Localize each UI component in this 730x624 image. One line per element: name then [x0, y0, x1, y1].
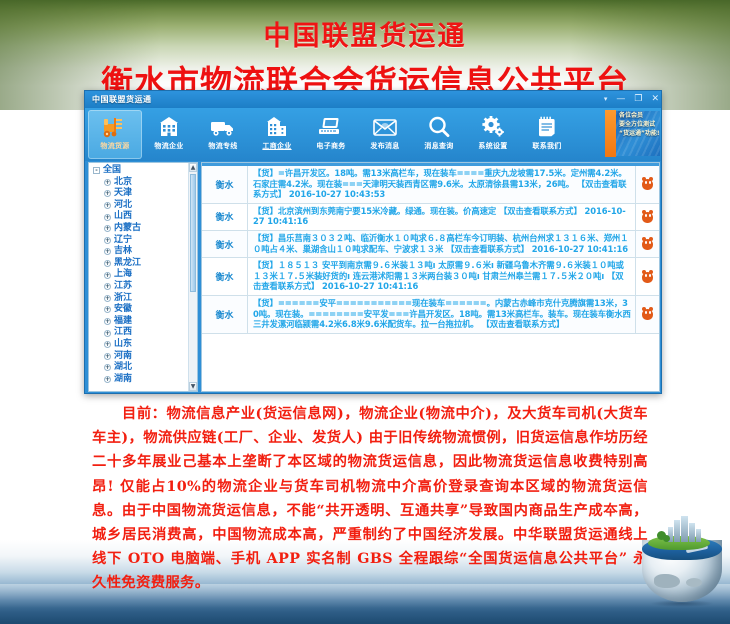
tree-node-province[interactable]: +黑龙江	[92, 258, 188, 270]
application-window: 中国联盟货运通 ▾ — ❐ ✕	[84, 90, 662, 394]
tree-node-root[interactable]: - 全国	[92, 165, 188, 177]
main-toolbar: 物流货源 物流企业	[85, 108, 661, 161]
toolbar-label: 发布消息	[370, 141, 399, 151]
window-workspace: - 全国 +北京+天津+河北+山西+内蒙古+辽宁+吉林+黑龙江+上海+江苏+浙江…	[88, 162, 660, 392]
tree-node-label: 江西	[114, 327, 132, 339]
envelope-icon	[372, 110, 398, 140]
toolbar-item-industrial-company[interactable]: 工商企业	[250, 110, 304, 159]
qq-contact-icon[interactable]	[642, 178, 653, 190]
qq-contact-icon[interactable]	[642, 238, 653, 250]
tree-toggle-icon[interactable]: +	[104, 353, 111, 360]
tree-node-label: 吉林	[114, 246, 132, 258]
qq-contact-icon[interactable]	[642, 308, 653, 320]
cargo-city: 衡水	[202, 296, 248, 333]
tree-node-label: 江苏	[114, 281, 132, 293]
globe-continent-1	[654, 574, 680, 588]
maximize-icon[interactable]: ❐	[634, 95, 642, 104]
scrollbar-thumb[interactable]	[190, 174, 196, 292]
scroll-up-icon[interactable]: ▲	[189, 163, 197, 172]
globe-building-5	[696, 529, 701, 542]
tree-node-province[interactable]: +山东	[92, 339, 188, 351]
cargo-message[interactable]: 【货】１８５１３ 安平到南京需９.６米装１３吨ı 太原需９.６米ı 新疆乌鲁木齐…	[248, 258, 635, 295]
toolbar-label: 物流货源	[100, 141, 129, 151]
note-icon	[535, 110, 559, 140]
tree-node-province[interactable]: +内蒙古	[92, 223, 188, 235]
globe-tree-2	[663, 535, 670, 542]
cargo-row[interactable]: 衡水【货】=许昌开发区。18吨。需13米高栏车，现在装车====重庆九龙坡需17…	[202, 166, 659, 204]
scroll-down-icon[interactable]: ▼	[189, 382, 197, 391]
region-tree: - 全国 +北京+天津+河北+山西+内蒙古+辽宁+吉林+黑龙江+上海+江苏+浙江…	[89, 163, 188, 391]
tree-node-label: 湖南	[114, 374, 132, 386]
tree-node-label: 安徽	[114, 304, 132, 316]
globe-building-3	[689, 523, 695, 542]
tree-node-province[interactable]: +江西	[92, 327, 188, 339]
cargo-row[interactable]: 衡水【货】昌乐莒南３０３２吨、临沂衡水１０吨求６.８高栏车今订明装、杭州台州求１…	[202, 231, 659, 258]
region-tree-panel: - 全国 +北京+天津+河北+山西+内蒙古+辽宁+吉林+黑龙江+上海+江苏+浙江…	[88, 162, 198, 392]
cargo-contact-cell[interactable]	[635, 204, 659, 230]
cargo-message[interactable]: 【货】昌乐莒南３０３２吨、临沂衡水１０吨求６.８高栏车今订明装、杭州台州求１３１…	[248, 231, 635, 257]
tree-toggle-icon[interactable]: +	[104, 214, 111, 221]
office-icon	[265, 110, 289, 140]
tree-node-label: 湖北	[114, 362, 132, 374]
tree-node-province[interactable]: +吉林	[92, 246, 188, 258]
toolbar-item-logistics-line[interactable]: 物流专线	[196, 110, 250, 159]
toolbar-label: 物流专线	[208, 141, 237, 151]
toolbar-item-ecommerce[interactable]: 电子商务	[304, 110, 358, 159]
toolbar-label: 联系我们	[532, 141, 561, 151]
tree-node-province[interactable]: +辽宁	[92, 235, 188, 247]
toolbar-label: 电子商务	[316, 141, 345, 151]
tree-toggle-icon[interactable]: +	[104, 248, 111, 255]
tree-node-label: 福建	[114, 316, 132, 328]
tree-node-province[interactable]: +湖南	[92, 374, 188, 386]
tree-node-province[interactable]: +河南	[92, 351, 188, 363]
qq-contact-icon[interactable]	[642, 211, 653, 223]
tree-node-label: 内蒙古	[114, 223, 141, 235]
globe-city-graphic	[640, 516, 724, 608]
toolbar-label: 消息查询	[424, 141, 453, 151]
promo-paragraph: 目前：物流信息产业(货运信息网)，物流企业(物流中介)，及大货车司机(大货车车主…	[92, 402, 648, 596]
tree-scrollbar[interactable]: ▲ ▼	[188, 163, 197, 391]
tree-toggle-icon[interactable]: +	[104, 330, 111, 337]
tree-toggle-icon[interactable]: +	[104, 364, 111, 371]
tree-toggle-icon[interactable]: +	[104, 190, 111, 197]
gear-icon	[480, 110, 506, 140]
search-icon	[427, 110, 451, 140]
toolbar-label: 工商企业	[262, 141, 291, 151]
toolbar-item-contact-us[interactable]: 联系我们	[520, 110, 574, 159]
tree-toggle-icon[interactable]: +	[104, 272, 111, 279]
toolbar-item-cargo-source[interactable]: 物流货源	[88, 110, 142, 159]
member-notice-banner[interactable]: 各位会员 要全方位测试 “货运通”功能!	[616, 111, 660, 156]
cargo-message[interactable]: 【货】======安平===========现在装车======。内蒙古赤峰市克…	[248, 296, 635, 333]
tree-toggle-icon[interactable]: +	[104, 237, 111, 244]
tree-node-province[interactable]: +山西	[92, 211, 188, 223]
tree-toggle-icon[interactable]: +	[104, 295, 111, 302]
tree-node-label: 上海	[114, 269, 132, 281]
cargo-city: 衡水	[202, 204, 248, 230]
tree-toggle-icon[interactable]: +	[104, 341, 111, 348]
tree-toggle-icon[interactable]: +	[104, 376, 111, 383]
tree-node-province[interactable]: +上海	[92, 269, 188, 281]
qq-contact-icon[interactable]	[642, 271, 653, 283]
globe-continent-2	[686, 578, 702, 587]
cargo-row[interactable]: 衡水【货】１８５１３ 安平到南京需９.６米装１３吨ı 太原需９.６米ı 新疆乌鲁…	[202, 258, 659, 296]
toolbar-item-system-settings[interactable]: 系统设置	[466, 110, 520, 159]
tree-toggle-icon[interactable]: +	[104, 179, 111, 186]
tree-node-province[interactable]: +江苏	[92, 281, 188, 293]
toolbar-label: 系统设置	[478, 141, 507, 151]
cargo-row[interactable]: 衡水【货】======安平===========现在装车======。内蒙古赤峰…	[202, 296, 659, 334]
close-icon[interactable]: ✕	[651, 95, 659, 104]
tree-node-label: 辽宁	[114, 235, 132, 247]
tree-node-province[interactable]: +天津	[92, 188, 188, 200]
toolbar-item-message-query[interactable]: 消息查询	[412, 110, 466, 159]
tree-node-label: 黑龙江	[114, 258, 141, 270]
tree-toggle-icon[interactable]: +	[104, 306, 111, 313]
tree-node-province[interactable]: +安徽	[92, 304, 188, 316]
tree-node-label: 北京	[114, 177, 132, 189]
tree-node-label: 山西	[114, 211, 132, 223]
cargo-row[interactable]: 衡水【货】北京滨州到东莞南宁要15米冷藏。绿通。现在装。价高速定 【双击查看联系…	[202, 204, 659, 231]
tree-node-province[interactable]: +湖北	[92, 362, 188, 374]
banner-line-3: “货运通”功能!	[616, 129, 660, 138]
cargo-message[interactable]: 【货】=许昌开发区。18吨。需13米高栏车，现在装车====重庆九龙坡需17.5…	[248, 166, 635, 203]
cargo-contact-cell[interactable]	[635, 258, 659, 295]
window-controls: ▾ — ❐ ✕	[604, 91, 659, 108]
tree-toggle-icon[interactable]: -	[93, 167, 100, 174]
cargo-contact-cell[interactable]	[635, 166, 659, 203]
tree-toggle-icon[interactable]: +	[104, 283, 111, 290]
toolbar-item-publish-message[interactable]: 发布消息	[358, 110, 412, 159]
tree-toggle-icon[interactable]: +	[104, 318, 111, 325]
tree-node-label: 浙江	[114, 293, 132, 305]
page-title-primary: 中国联盟货运通	[0, 14, 730, 53]
tree-node-province[interactable]: +浙江	[92, 293, 188, 305]
tree-node-province[interactable]: +河北	[92, 200, 188, 212]
tree-node-province[interactable]: +福建	[92, 316, 188, 328]
window-title: 中国联盟货运通	[85, 94, 152, 105]
cargo-contact-cell[interactable]	[635, 231, 659, 257]
toolbar-item-logistics-company[interactable]: 物流企业	[142, 110, 196, 159]
cargo-city: 衡水	[202, 166, 248, 203]
tree-node-label: 河南	[114, 351, 132, 363]
toolbar-label: 物流企业	[154, 141, 183, 151]
tree-toggle-icon[interactable]: +	[104, 260, 111, 267]
truck-icon	[210, 110, 236, 140]
tree-node-label: 全国	[103, 165, 121, 177]
cargo-contact-cell[interactable]	[635, 296, 659, 333]
globe-building-1	[674, 520, 680, 542]
cargo-city: 衡水	[202, 258, 248, 295]
tree-node-label: 天津	[114, 188, 132, 200]
banner-line-2: 要全方位测试	[616, 120, 660, 129]
tree-node-label: 河北	[114, 200, 132, 212]
building-icon	[157, 110, 181, 140]
minimize-icon[interactable]: —	[616, 95, 625, 104]
globe-building-2	[681, 516, 688, 542]
window-titlebar: 中国联盟货运通 ▾ — ❐ ✕	[85, 91, 661, 108]
chevron-down-icon[interactable]: ▾	[604, 96, 608, 103]
toolbar-orange-divider	[605, 110, 616, 157]
cargo-city: 衡水	[202, 231, 248, 257]
tree-toggle-icon[interactable]: +	[104, 202, 111, 209]
tree-node-province[interactable]: +北京	[92, 177, 188, 189]
cargo-list-panel: 衡水【货】=许昌开发区。18吨。需13米高栏车，现在装车====重庆九龙坡需17…	[201, 162, 660, 392]
banner-line-1: 各位会员	[616, 111, 660, 120]
forklift-icon	[102, 110, 128, 140]
tree-toggle-icon[interactable]: +	[104, 225, 111, 232]
tree-node-label: 山东	[114, 339, 132, 351]
cargo-message[interactable]: 【货】北京滨州到东莞南宁要15米冷藏。绿通。现在装。价高速定 【双击查看联系方式…	[248, 204, 635, 230]
computer-icon	[318, 110, 344, 140]
